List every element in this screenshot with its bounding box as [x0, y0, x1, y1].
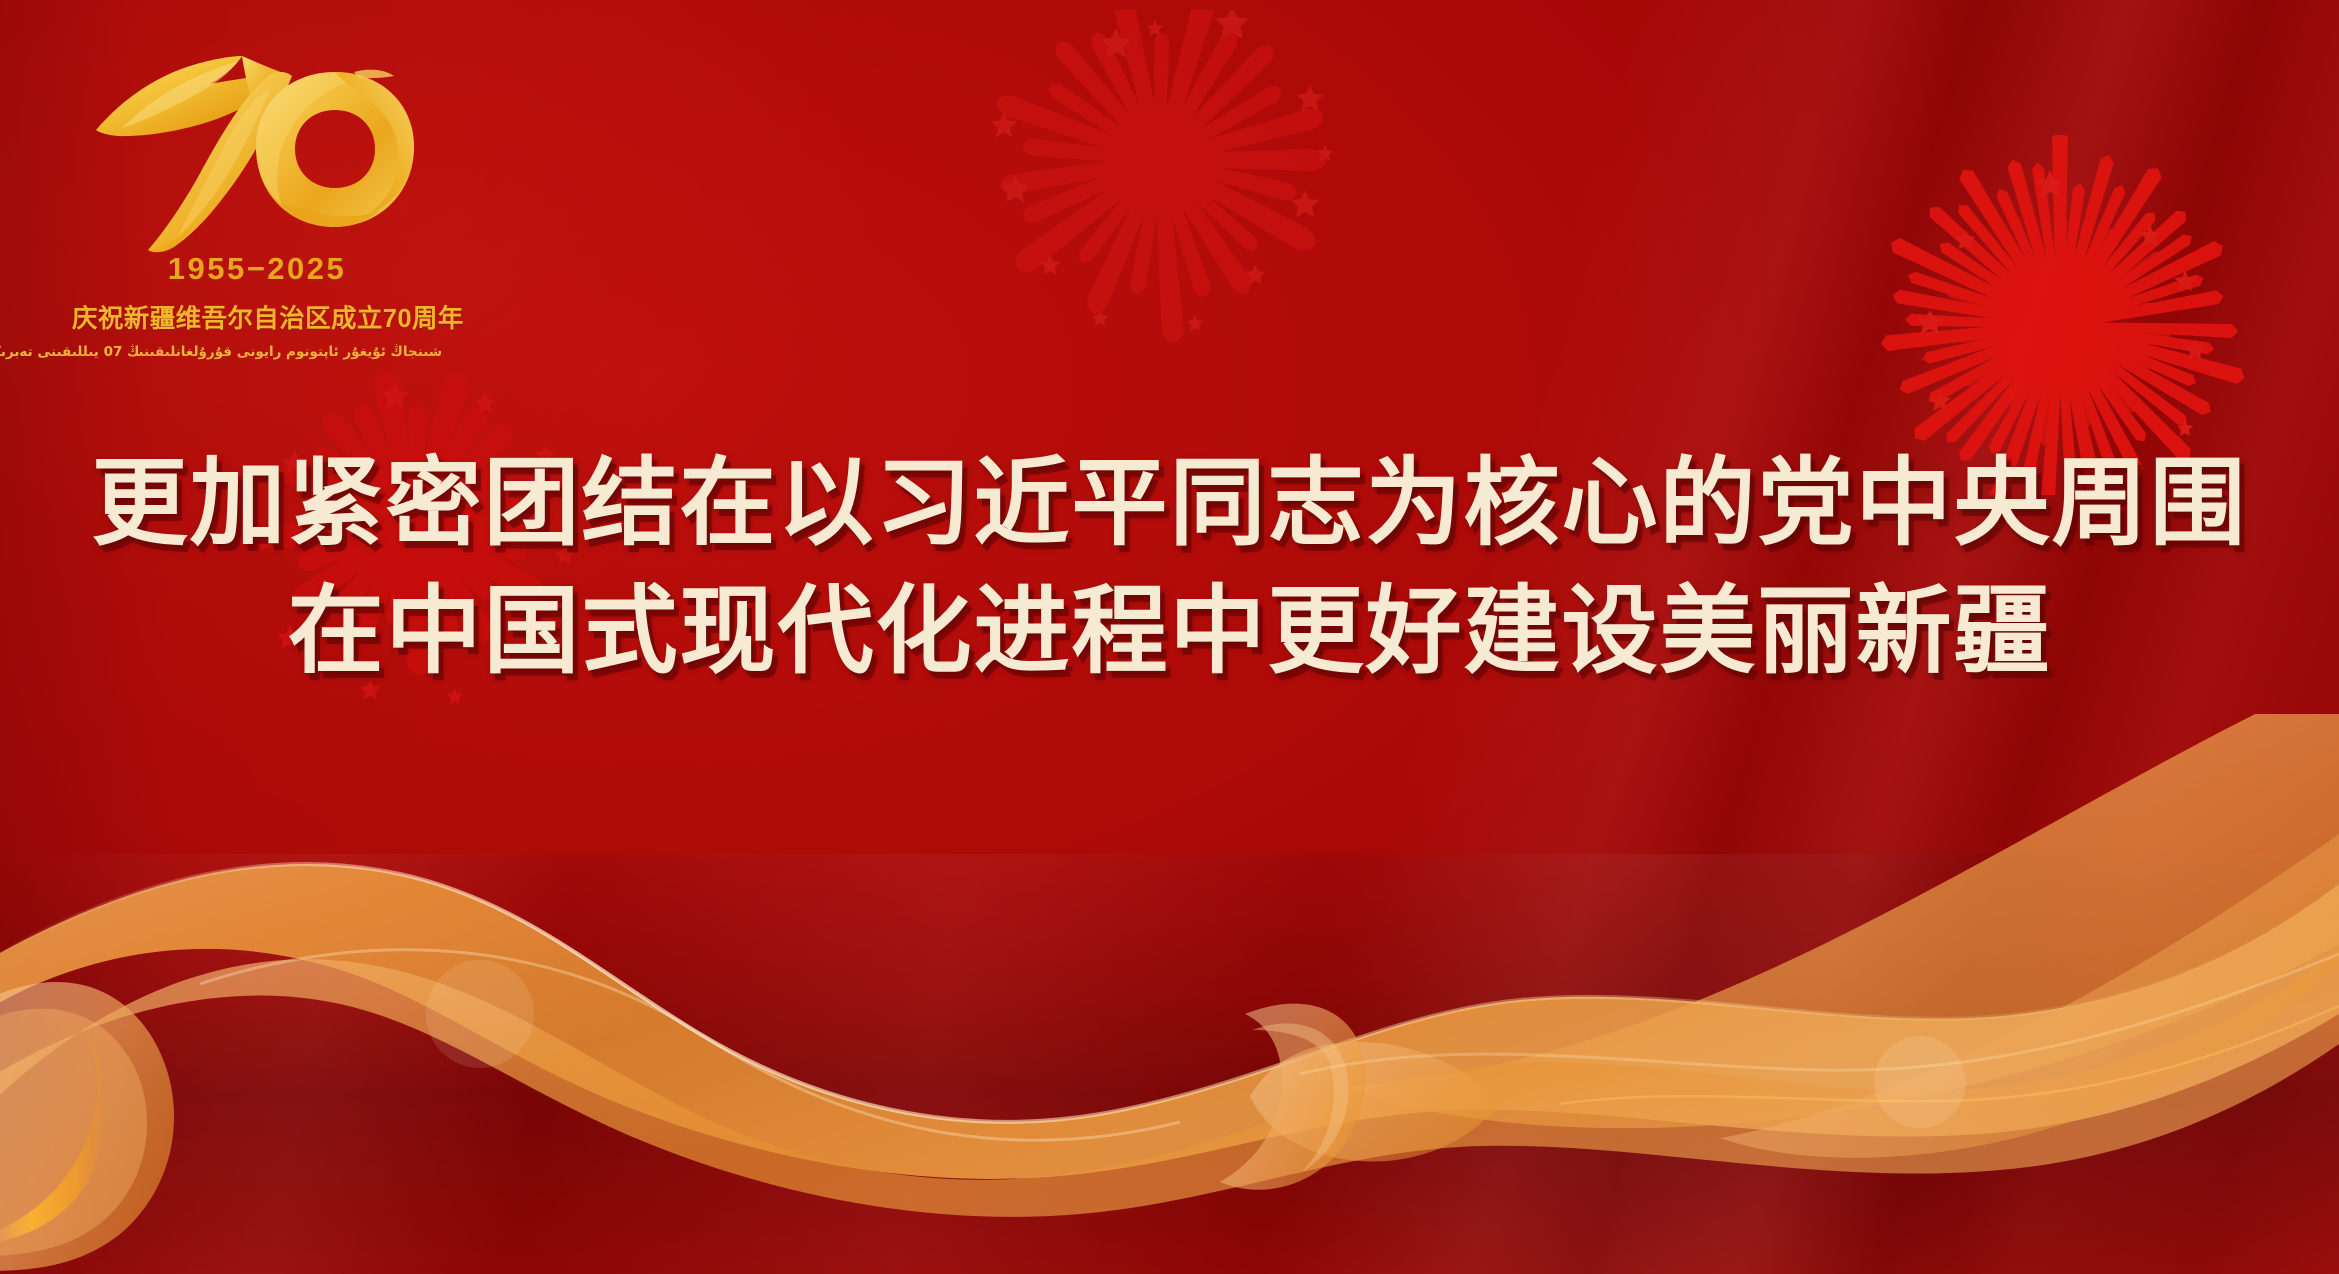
seventy-ribbon-numeral-icon: [92, 42, 422, 257]
emblem-chinese-caption: 庆祝新疆维吾尔自治区成立70周年: [72, 298, 442, 335]
headline-block: 更加紧密团结在以习近平同志为核心的党中央周围 在中国式现代化进程中更好建设美丽新…: [0, 455, 2339, 679]
headline-line-2: 在中国式现代化进程中更好建设美丽新疆: [0, 583, 2339, 679]
anniversary-emblem: 1955−2025 庆祝新疆维吾尔自治区成立70周年 شىنجاڭ ئۇيغۇر…: [72, 42, 442, 360]
zero-flick: [354, 70, 394, 78]
emblem-uyghur-caption: شىنجاڭ ئۇيغۇر ئاپتونوم رايونى قۇرۇلغانلى…: [72, 344, 442, 360]
emblem-years-range: 1955−2025: [72, 251, 442, 287]
poster-canvas: 1955−2025 庆祝新疆维吾尔自治区成立70周年 شىنجاڭ ئۇيغۇر…: [0, 0, 2339, 1274]
background-bottom-sheen: [0, 854, 2339, 1274]
headline-line-1: 更加紧密团结在以习近平同志为核心的党中央周围: [0, 455, 2339, 551]
